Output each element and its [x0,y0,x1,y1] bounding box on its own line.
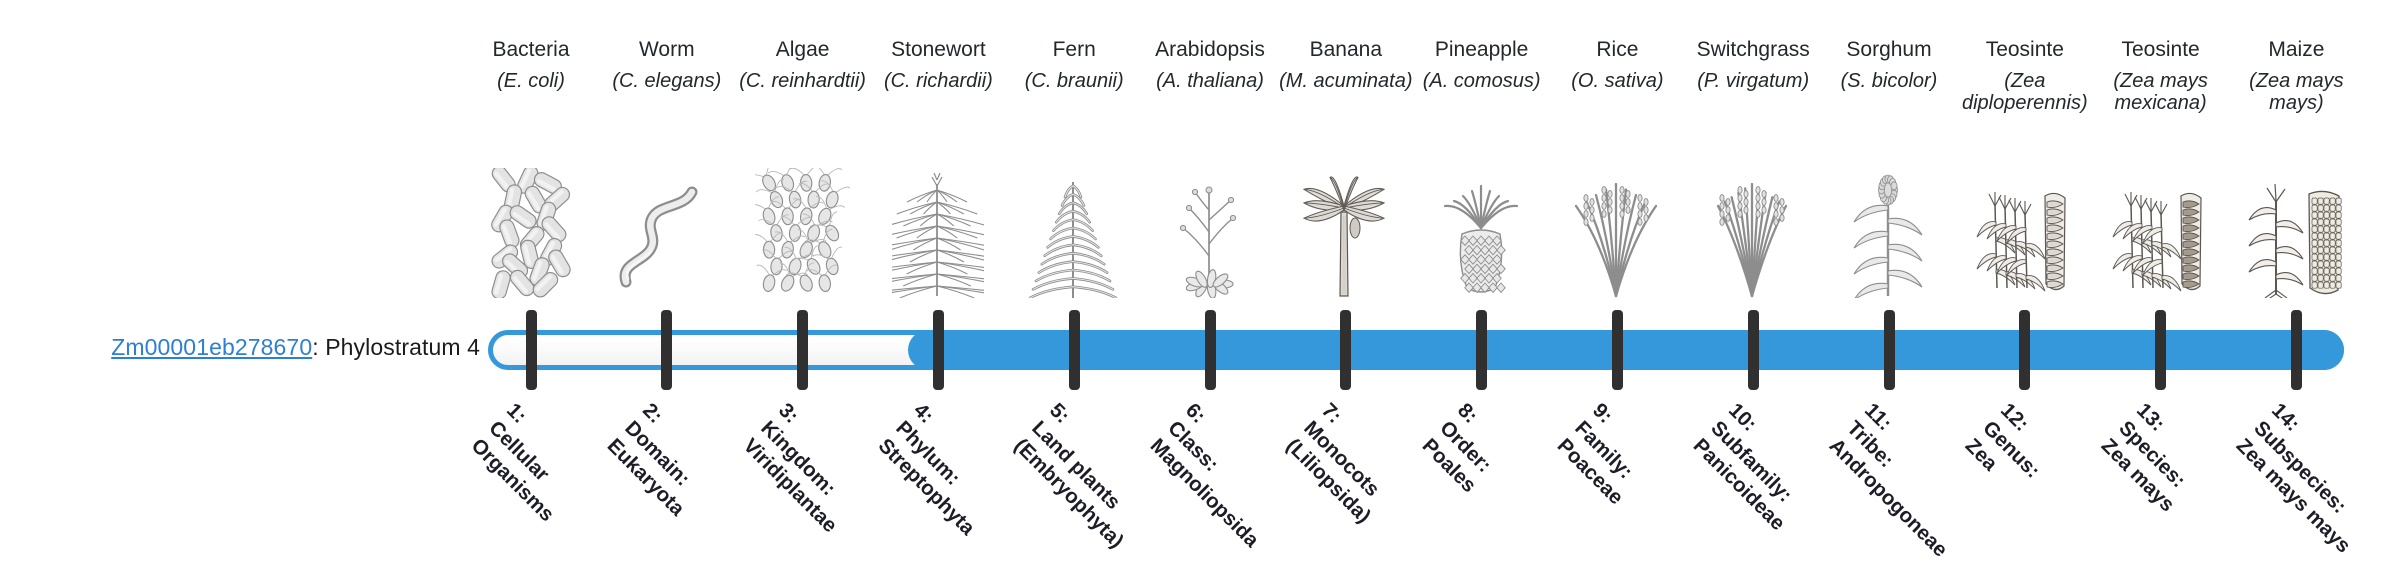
stratum-tick-13[interactable] [2155,310,2166,390]
stratum-tick-12[interactable] [2019,310,2030,390]
stratum-tick-7[interactable] [1340,310,1351,390]
stratum-tick-4[interactable] [933,310,944,390]
species-latin-name: (C. reinhardtii) [731,70,875,92]
rank-label-4: 4: Phylum: Streptophyta [873,398,1117,580]
stratum-tick-5[interactable] [1069,310,1080,390]
phylostratum-track[interactable] [488,330,2344,370]
species-latin-name: (C. elegans) [595,70,739,92]
rank-label-1: 1: Cellular Organisms [466,398,710,580]
species-common-name: Stonewort [870,38,1006,62]
pineapple-icon [1414,168,1550,298]
arabidopsis-icon [1142,168,1278,298]
species-latin-name: (A. thaliana) [1138,70,1282,92]
species-common-name: Worm [599,38,735,62]
phylostratigraphy-timeline: Zm00001eb278670: Phylostratum 4 Bacteria… [0,0,2400,580]
species-common-name: Teosinte [1957,38,2093,62]
gene-label-separator: : [312,334,325,360]
rank-label-13: 13: Species: Zea mays [2096,398,2340,580]
nematode-worm-icon [599,168,735,298]
species-common-name: Rice [1549,38,1685,62]
species-common-name: Algae [735,38,871,62]
banana-plant-icon [1278,168,1414,298]
stratum-tick-2[interactable] [661,310,672,390]
teosinte-plant-ear-icon [2093,168,2229,298]
species-common-name: Maize [2228,38,2364,62]
species-latin-name: (E. coli) [459,70,603,92]
rank-label-7: 7: Monocots (Liliopsida) [1281,398,1525,580]
teosinte-plant-ear-icon [1957,168,2093,298]
species-common-name: Switchgrass [1685,38,1821,62]
stonewort-icon [870,168,1006,298]
species-common-name: Pineapple [1414,38,1550,62]
rank-label-3: 3: Kingdom: Viridiplantae [738,398,982,580]
rank-label-12: 12: Genus: Zea [1960,398,2204,580]
species-latin-name: (C. richardii) [866,70,1010,92]
stratum-tick-10[interactable] [1748,310,1759,390]
track-filled-portion [908,330,2344,370]
switchgrass-icon [1685,168,1821,298]
phylostratum-value: Phylostratum 4 [325,334,480,360]
rank-label-2: 2: Domain: Eukaryota [602,398,846,580]
species-common-name: Arabidopsis [1142,38,1278,62]
stratum-tick-1[interactable] [526,310,537,390]
rank-label-6: 6: Class: Magnoliopsida [1145,398,1389,580]
species-latin-name: (P. virgatum) [1681,70,1825,92]
maize-plant-cob-icon [2228,168,2364,298]
sorghum-icon [1821,168,1957,298]
species-latin-name: (Zea diploperennis) [1953,70,2097,115]
species-latin-name: (Zea mays mexicana) [2089,70,2233,115]
rank-label-8: 8: Order: Poales [1417,398,1661,580]
species-latin-name: (A. comosus) [1410,70,1554,92]
species-common-name: Bacteria [463,38,599,62]
species-latin-name: (C. braunii) [1002,70,1146,92]
species-latin-name: (Zea mays mays) [2224,70,2368,115]
rank-label-10: 10: Subfamily: Panicoideae [1688,398,1932,580]
gene-phylostratum-label: Zm00001eb278670: Phylostratum 4 [40,334,480,361]
gene-id-link[interactable]: Zm00001eb278670 [111,334,312,360]
species-common-name: Fern [1006,38,1142,62]
species-common-name: Banana [1278,38,1414,62]
species-common-name: Sorghum [1821,38,1957,62]
species-common-name: Teosinte [2093,38,2229,62]
stratum-tick-11[interactable] [1884,310,1895,390]
bacteria-rods-icon [463,168,599,298]
rank-label-5: 5: Land plants (Embryophyta) [1009,398,1253,580]
stratum-tick-14[interactable] [2291,310,2302,390]
stratum-tick-3[interactable] [797,310,808,390]
rank-label-9: 9: Family: Poaceae [1552,398,1796,580]
species-latin-name: (O. sativa) [1545,70,1689,92]
species-latin-name: (M. acuminata) [1274,70,1418,92]
stratum-tick-8[interactable] [1476,310,1487,390]
rank-label-14: 14: Subspecies: Zea mays mays [2231,398,2400,580]
stratum-tick-6[interactable] [1205,310,1216,390]
rank-label-11: 11: Tribe: Andropogoneae [1824,398,2068,580]
stratum-tick-9[interactable] [1612,310,1623,390]
species-latin-name: (S. bicolor) [1817,70,1961,92]
fern-frond-icon [1006,168,1142,298]
algae-cells-icon [735,168,871,298]
rice-plant-icon [1549,168,1685,298]
